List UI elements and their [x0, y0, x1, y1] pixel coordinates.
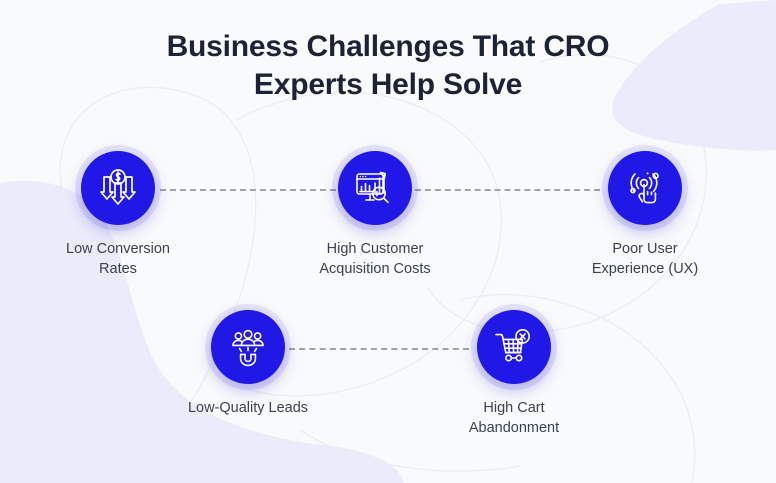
node-high-customer-acquisition-costs[interactable]: High Customer Acquisition Costs: [265, 151, 485, 279]
hand-tap-signal-icon: [623, 166, 667, 210]
node-low-conversion-rates[interactable]: Low Conversion Rates: [8, 151, 228, 279]
label-line-1: Poor User: [535, 239, 755, 259]
label-line-2: Abandonment: [404, 418, 624, 438]
cart-cross-icon: [492, 325, 536, 369]
node-label-high-cart-abandonment: High Cart Abandonment: [404, 398, 624, 438]
title-line-2: Experts Help Solve: [0, 66, 776, 104]
label-line-2: Rates: [8, 259, 228, 279]
down-arrows-dollar-icon: [96, 166, 140, 210]
icon-badge-high-customer-acquisition-costs[interactable]: [338, 151, 412, 225]
people-magnet-icon: [226, 325, 270, 369]
node-label-low-conversion-rates: Low Conversion Rates: [8, 239, 228, 279]
icon-badge-high-cart-abandonment[interactable]: [477, 310, 551, 384]
title-line-1: Business Challenges That CRO: [0, 28, 776, 66]
icon-badge-low-quality-leads[interactable]: [211, 310, 285, 384]
label-line-1: Low-Quality Leads: [138, 398, 358, 418]
label-line-1: High Cart: [404, 398, 624, 418]
infographic-canvas: Business Challenges That CRO Experts Hel…: [0, 0, 776, 483]
label-line-1: Low Conversion: [8, 239, 228, 259]
label-line-2: Acquisition Costs: [265, 259, 485, 279]
monitor-bar-chart-magnifier-icon: [353, 166, 397, 210]
icon-badge-poor-user-experience[interactable]: [608, 151, 682, 225]
node-poor-user-experience[interactable]: Poor User Experience (UX): [535, 151, 755, 279]
node-label-low-quality-leads: Low-Quality Leads: [138, 398, 358, 418]
node-high-cart-abandonment[interactable]: High Cart Abandonment: [404, 310, 624, 438]
node-label-high-customer-acquisition-costs: High Customer Acquisition Costs: [265, 239, 485, 279]
node-low-quality-leads[interactable]: Low-Quality Leads: [138, 310, 358, 418]
icon-badge-low-conversion-rates[interactable]: [81, 151, 155, 225]
node-label-poor-user-experience: Poor User Experience (UX): [535, 239, 755, 279]
page-title: Business Challenges That CRO Experts Hel…: [0, 28, 776, 104]
label-line-2: Experience (UX): [535, 259, 755, 279]
label-line-1: High Customer: [265, 239, 485, 259]
